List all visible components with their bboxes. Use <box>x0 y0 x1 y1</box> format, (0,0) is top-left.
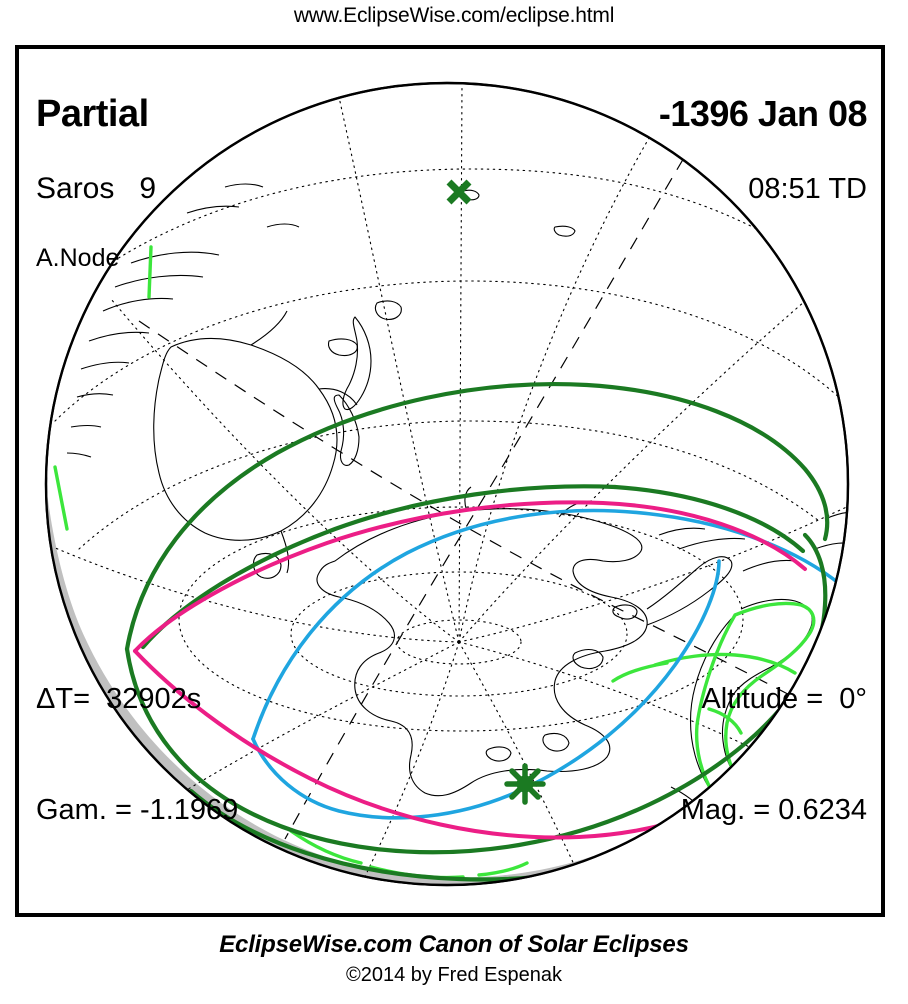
eclipse-time-label: 08:51 TD <box>659 171 867 207</box>
footer-copyright: ©2014 by Fred Espenak <box>0 964 908 987</box>
node-label: A.Node <box>36 243 156 273</box>
saros-label: Saros 9 <box>36 171 156 207</box>
header-left-block: Partial Saros 9 A.Node <box>36 57 156 309</box>
gamma-value: Gam. = -1.1969 <box>36 792 238 829</box>
eclipse-map-canvas: Partial Saros 9 A.Node -1396 Jan 08 08:5… <box>19 49 881 913</box>
footer-title: EclipseWise.com Canon of Solar Eclipses <box>0 931 908 959</box>
eclipse-map-frame: Partial Saros 9 A.Node -1396 Jan 08 08:5… <box>15 45 885 917</box>
magnitude-value: Mag. = 0.6234 <box>681 792 867 829</box>
eclipse-map-page: www.EclipseWise.com/eclipse.html <box>0 0 908 1004</box>
eclipse-type-label: Partial <box>36 93 156 135</box>
header-right-block: -1396 Jan 08 08:51 TD <box>659 57 867 243</box>
values-right-block: Altitude = 0° Mag. = 0.6234 <box>681 607 867 903</box>
url-caption: www.EclipseWise.com/eclipse.html <box>0 4 908 28</box>
greatest-eclipse-marker <box>507 766 543 802</box>
altitude-value: Altitude = 0° <box>681 681 867 718</box>
delta-t-value: ΔT= 32902s <box>36 681 238 718</box>
eclipse-date-label: -1396 Jan 08 <box>659 93 867 135</box>
values-left-block: ΔT= 32902s Gam. = -1.1969 <box>36 607 238 903</box>
